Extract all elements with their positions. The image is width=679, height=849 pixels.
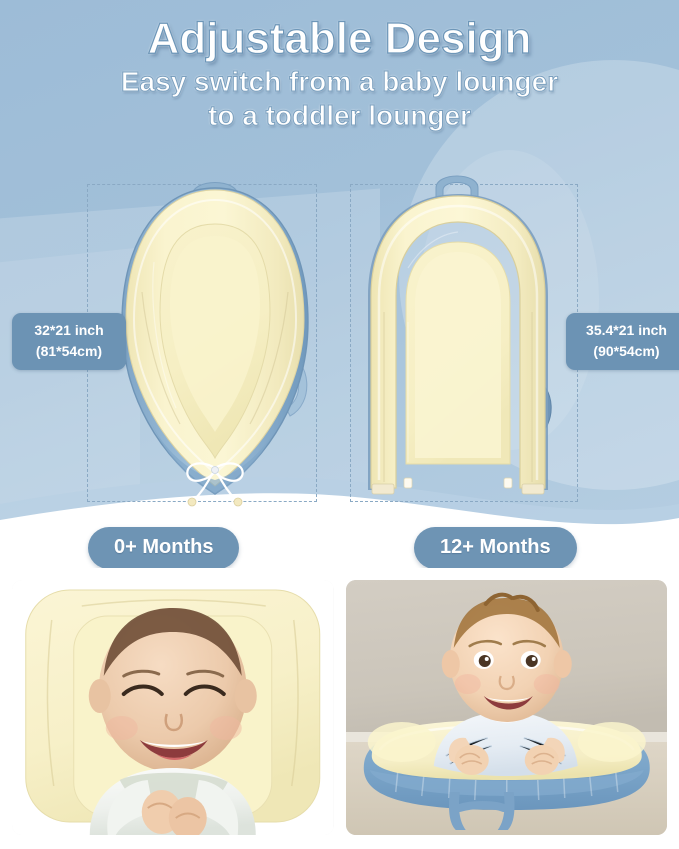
toddler-on-lounger-photo: [346, 580, 668, 835]
toddler-lounger-illustration: [348, 172, 568, 512]
subtitle-line-2: to a toddler lounger: [0, 99, 679, 133]
dimension-cm-baby: (81*54cm): [22, 341, 116, 362]
dimension-inch-baby: 32*21 inch: [22, 320, 116, 341]
dimension-badge-baby: 32*21 inch (81*54cm): [12, 313, 126, 370]
adjustable-design-panel: Adjustable Design Easy switch from a bab…: [0, 0, 679, 568]
baby-lounger-illustration: [110, 172, 320, 512]
subtitle-line-1: Easy switch from a baby lounger: [0, 65, 679, 99]
baby-in-lounger-photo: [12, 580, 334, 835]
page-title: Adjustable Design: [0, 14, 679, 65]
photo-strip: [0, 568, 679, 849]
age-badge-baby: 0+ Months: [88, 527, 239, 568]
dimension-cm-toddler: (90*54cm): [576, 341, 677, 362]
heading-block: Adjustable Design Easy switch from a bab…: [0, 14, 679, 133]
dimension-inch-toddler: 35.4*21 inch: [576, 320, 677, 341]
age-badge-toddler: 12+ Months: [414, 527, 577, 568]
dimension-badge-toddler: 35.4*21 inch (90*54cm): [566, 313, 679, 370]
